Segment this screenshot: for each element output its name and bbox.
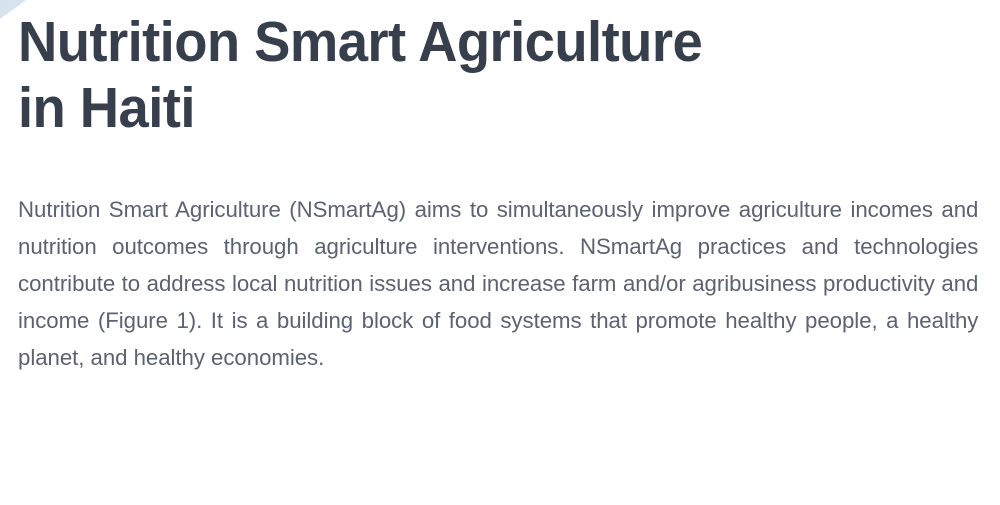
document-page: Nutrition Smart Agriculture in Haiti Nut… xyxy=(0,0,1000,505)
intro-paragraph: Nutrition Smart Agriculture (NSmartAg) a… xyxy=(18,191,978,376)
document-content: Nutrition Smart Agriculture in Haiti Nut… xyxy=(18,0,992,376)
page-title: Nutrition Smart Agriculture in Haiti xyxy=(18,0,948,141)
